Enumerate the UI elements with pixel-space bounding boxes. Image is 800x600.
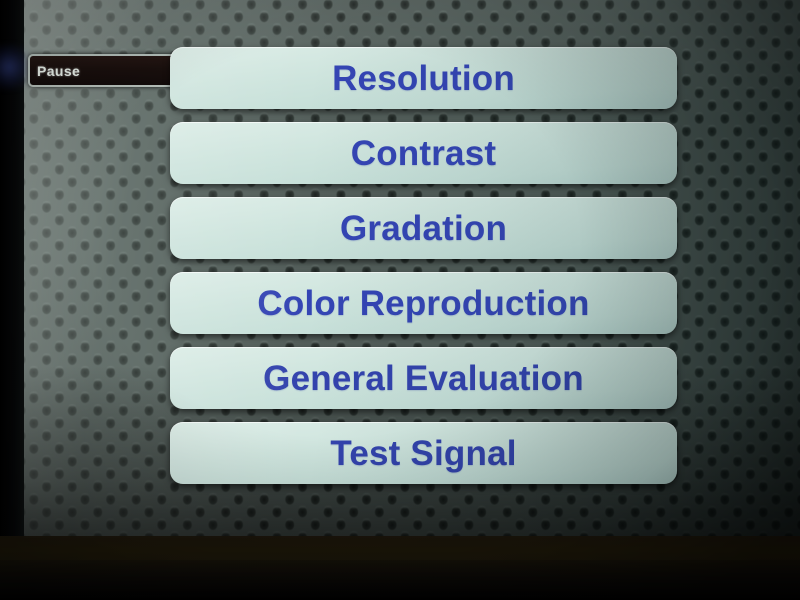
- menu-item-color-reproduction[interactable]: Color Reproduction: [170, 272, 677, 334]
- menu-item-contrast[interactable]: Contrast: [170, 122, 677, 184]
- menu-item-test-signal[interactable]: Test Signal: [170, 422, 677, 484]
- menu-item-gradation[interactable]: Gradation: [170, 197, 677, 259]
- pause-indicator[interactable]: Pause: [28, 54, 179, 87]
- menu-item-color-reproduction-label: Color Reproduction: [257, 286, 589, 321]
- menu-item-test-signal-label: Test Signal: [330, 436, 516, 471]
- menu-item-resolution[interactable]: Resolution: [170, 47, 677, 109]
- main-menu-list: Resolution Contrast Gradation Color Repr…: [170, 47, 677, 484]
- pause-indicator-label: Pause: [30, 63, 80, 79]
- menu-item-general-evaluation[interactable]: General Evaluation: [170, 347, 677, 409]
- menu-item-general-evaluation-label: General Evaluation: [263, 361, 584, 396]
- projected-screen-photo: Pause Resolution Contrast Gradation Colo…: [0, 0, 800, 600]
- menu-item-gradation-label: Gradation: [340, 211, 507, 246]
- menu-item-resolution-label: Resolution: [332, 61, 515, 96]
- menu-item-contrast-label: Contrast: [351, 136, 497, 171]
- screen-bezel-bottom-shadow: [0, 560, 800, 600]
- screen-bezel-left: [0, 0, 24, 600]
